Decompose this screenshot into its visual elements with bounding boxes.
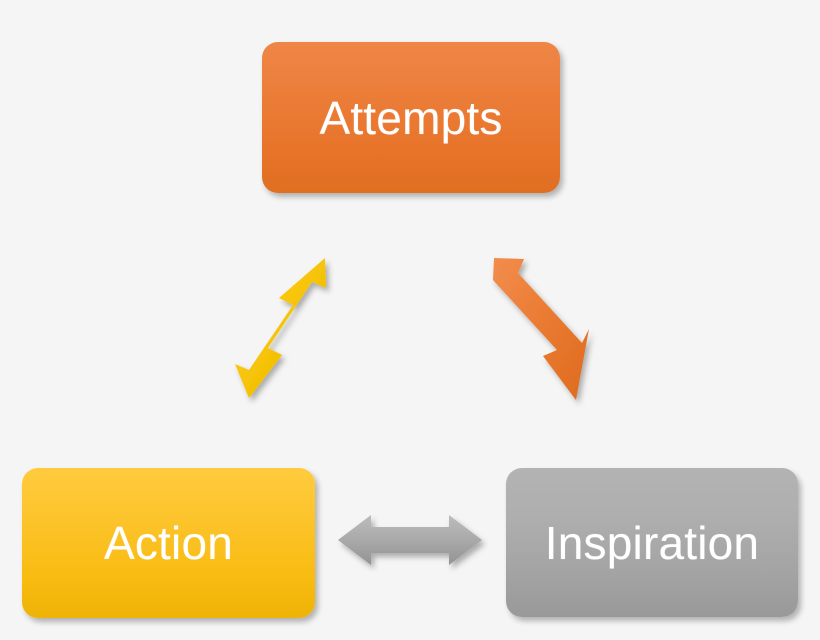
arrow-body — [235, 258, 326, 398]
connector-attempts-inspiration-arrow[interactable] — [470, 244, 600, 410]
node-attempts-label: Attempts — [319, 95, 502, 141]
node-attempts[interactable]: Attempts — [262, 42, 560, 193]
diagram-canvas: Attempts Action Inspiration — [0, 0, 820, 640]
node-action[interactable]: Action — [22, 468, 315, 618]
node-inspiration[interactable]: Inspiration — [506, 468, 798, 617]
arrow-body — [493, 258, 589, 400]
node-inspiration-label: Inspiration — [545, 520, 759, 566]
connector-action-attempts-arrow[interactable] — [218, 244, 348, 410]
node-action-label: Action — [104, 520, 233, 566]
arrow-body — [338, 515, 482, 565]
connector-action-inspiration-arrow[interactable] — [330, 498, 496, 588]
